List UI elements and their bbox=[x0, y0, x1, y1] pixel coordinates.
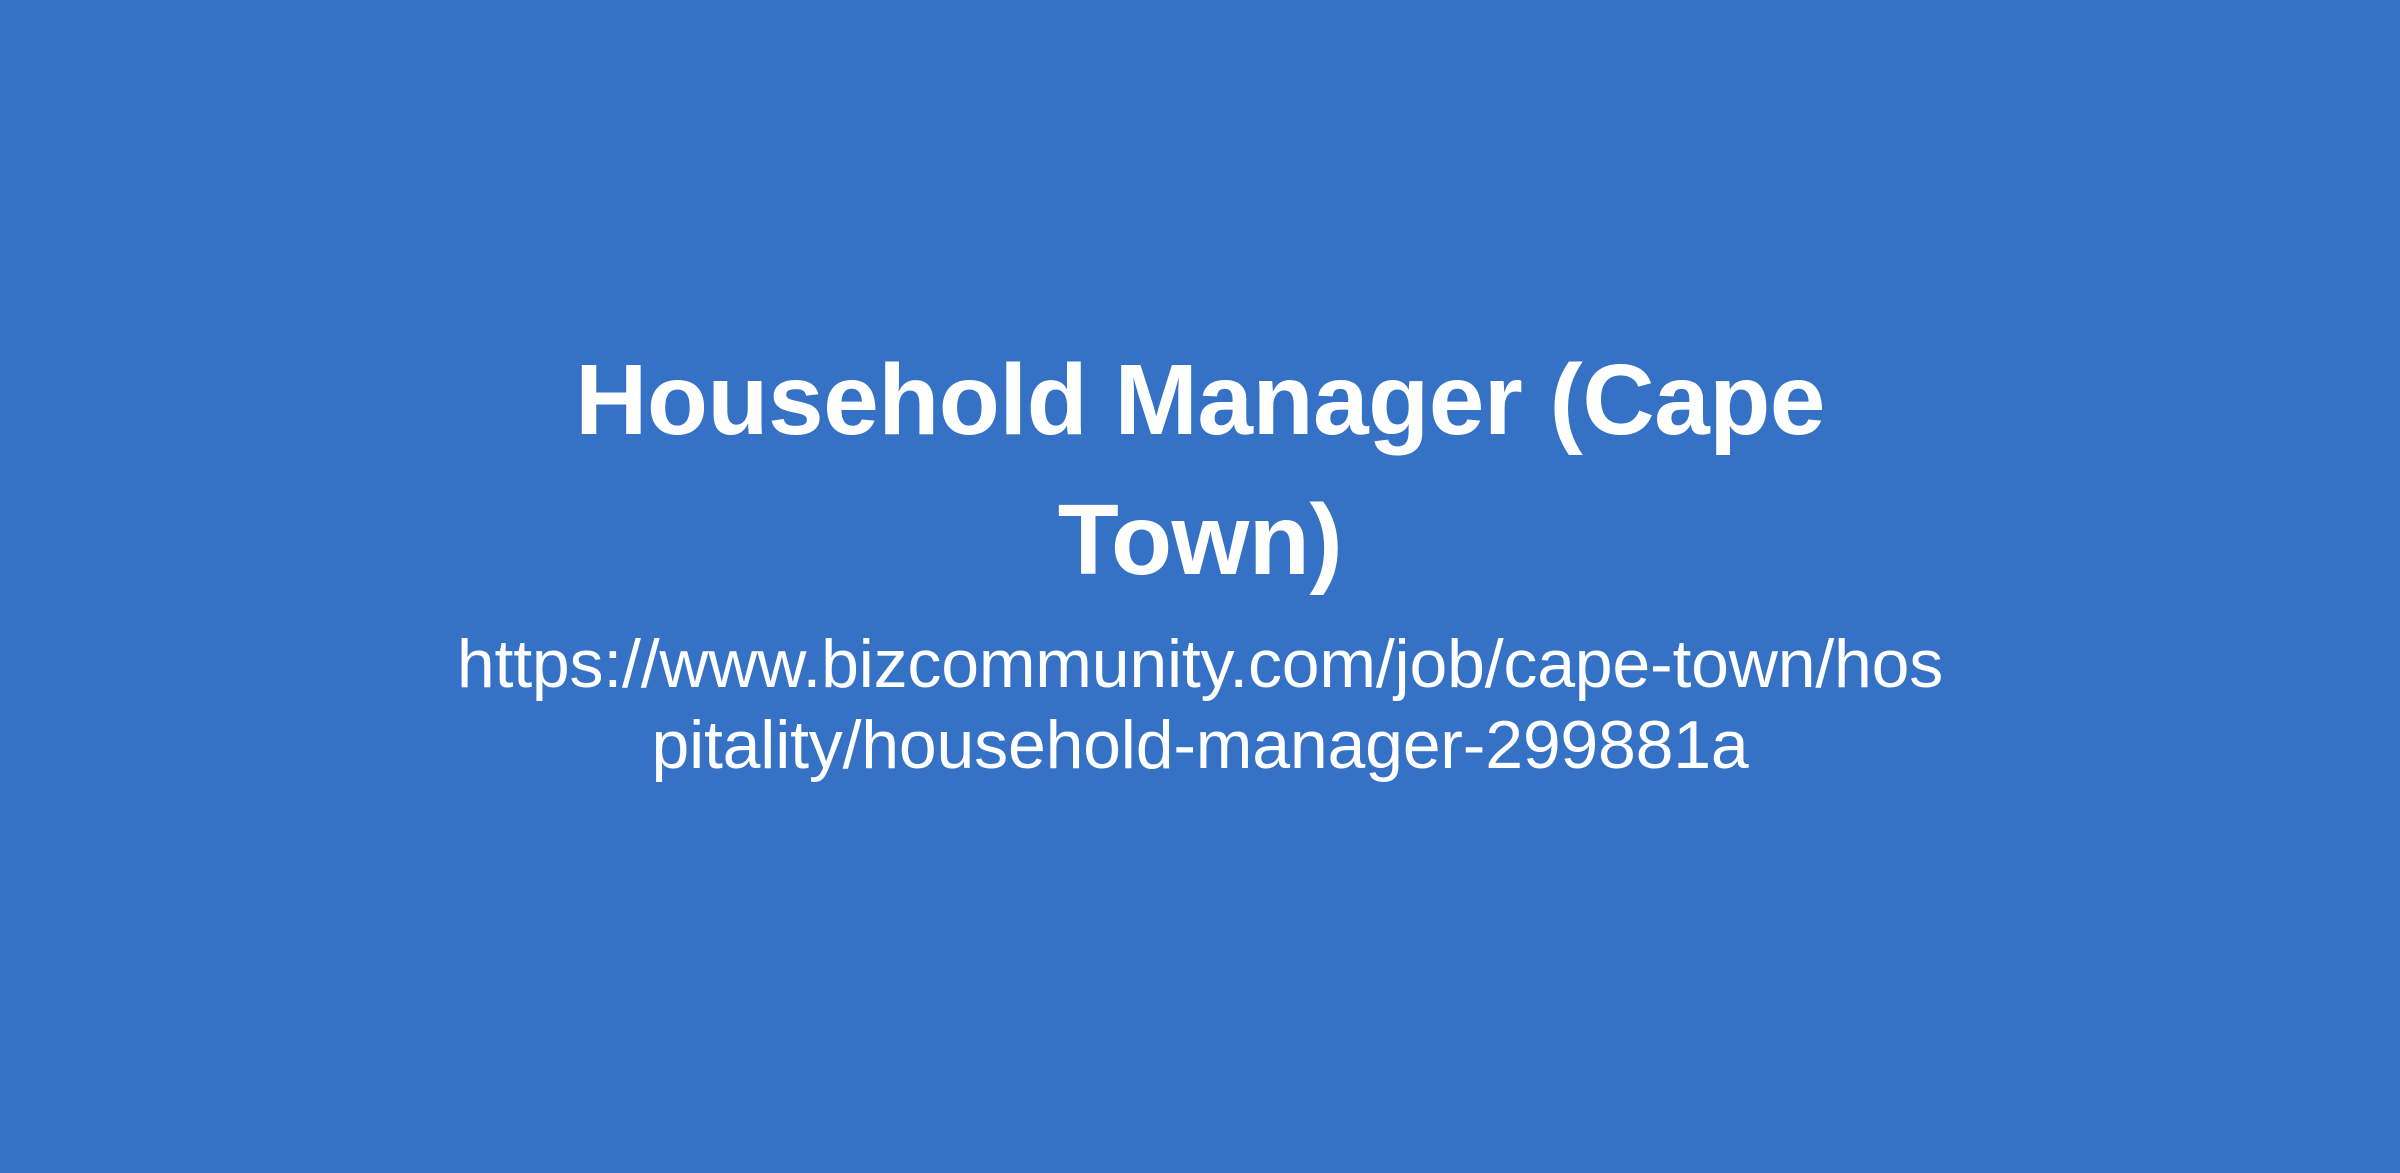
social-share-card: Household Manager (Cape Town) https://ww… bbox=[0, 0, 2400, 1173]
page-title: Household Manager (Cape Town) bbox=[490, 330, 1910, 610]
page-url: https://www.bizcommunity.com/job/cape-to… bbox=[445, 624, 1955, 784]
card-content: Household Manager (Cape Town) https://ww… bbox=[120, 330, 2280, 784]
